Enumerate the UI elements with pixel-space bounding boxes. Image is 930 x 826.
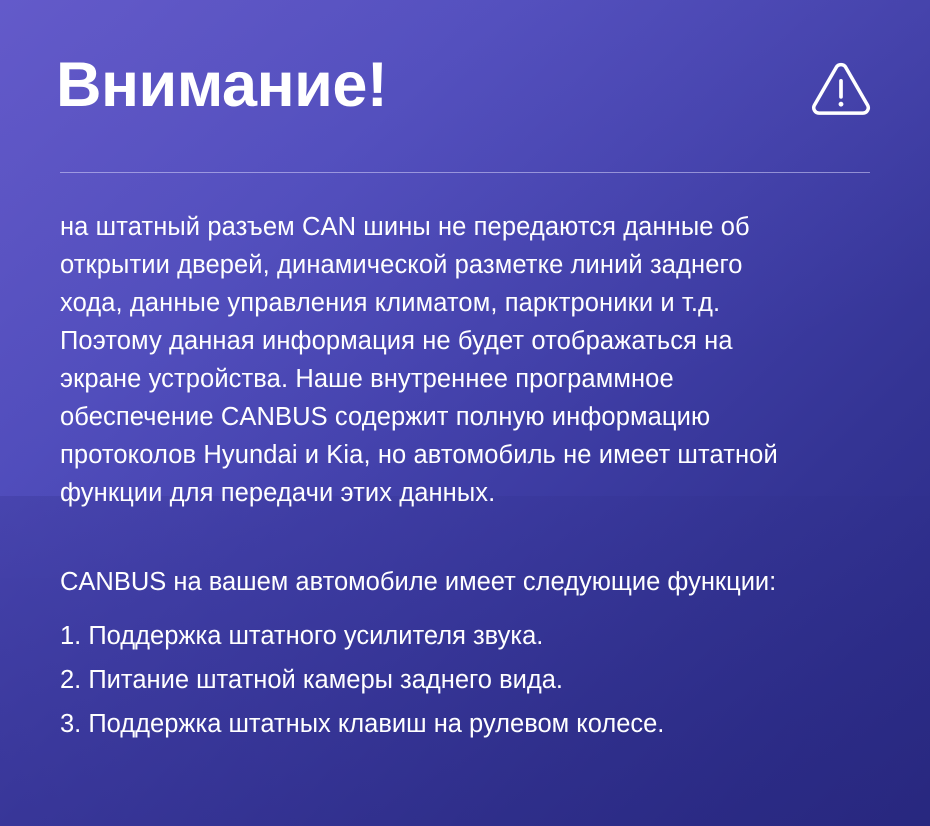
list-item: 1. Поддержка штатного усилителя звука. [60,614,878,658]
notice-line: обеспечение CANBUS содержит полную инфор… [60,398,878,436]
notice-line: функции для передачи этих данных. [60,474,878,512]
warning-banner: Внимание! на штатный разъем CAN шины не … [0,0,930,826]
notice-paragraph: на штатный разъем CAN шины не передаются… [60,208,878,512]
banner-body: на штатный разъем CAN шины не передаются… [60,208,878,746]
list-item: 3. Поддержка штатных клавиш на рулевом к… [60,702,878,746]
page-title: Внимание! [56,52,387,118]
warning-triangle-icon [810,60,872,122]
list-item: 2. Питание штатной камеры заднего вида. [60,658,878,702]
header-divider [60,172,870,173]
notice-line: открытии дверей, динамической разметке л… [60,246,878,284]
notice-line: Поэтому данная информация не будет отобр… [60,322,878,360]
notice-line: на штатный разъем CAN шины не передаются… [60,208,878,246]
banner-header: Внимание! [0,0,930,174]
notice-line: хода, данные управления климатом, парктр… [60,284,878,322]
notice-line: протоколов Hyundai и Kia, но автомобиль … [60,436,878,474]
notice-line: экране устройства. Наше внутреннее прогр… [60,360,878,398]
features-block: CANBUS на вашем автомобиле имеет следующ… [60,564,878,746]
features-intro: CANBUS на вашем автомобиле имеет следующ… [60,564,878,600]
